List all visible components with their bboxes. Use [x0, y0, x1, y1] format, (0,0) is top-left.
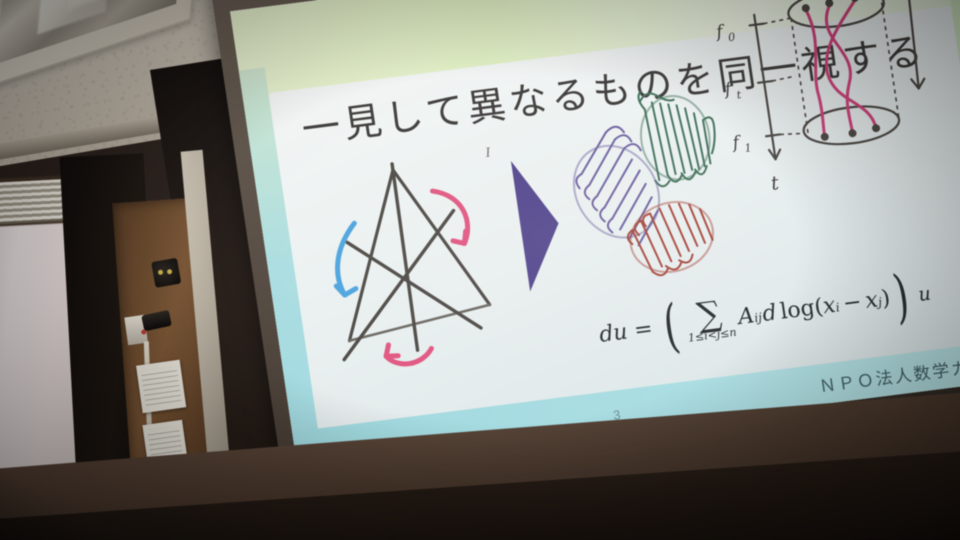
svg-text:1: 1 [744, 141, 753, 155]
formula-open-paren: ( [661, 305, 681, 348]
svg-text:f: f [713, 22, 727, 43]
formula-log: log( [779, 295, 825, 325]
formula-lhs: du [598, 320, 630, 348]
formula-A: A [737, 304, 756, 331]
svg-text:t: t [736, 88, 743, 101]
formula-sum-limits: 1≤i<j≤n [687, 325, 737, 344]
lecture-room: 一見して異なるものを同一視する [0, 0, 960, 540]
notice-text-lines [141, 366, 182, 409]
formula-equals: = [633, 317, 655, 344]
formula-summation: ∑ 1≤i<j≤n [683, 299, 737, 345]
formula-d: d [761, 301, 779, 328]
wall-clip [141, 310, 172, 331]
svg-text:t: t [769, 172, 780, 195]
wall-hook-icon [151, 258, 181, 288]
formula-minus: − [841, 290, 863, 317]
svg-text:0: 0 [727, 30, 736, 44]
svg-text:f: f [721, 79, 735, 100]
svg-text:f: f [729, 132, 743, 153]
screenshot-stage: 一見して異なるものを同一視する [0, 0, 960, 540]
formula-close-paren: ) [891, 276, 911, 319]
formula-trailing-u: u [917, 283, 932, 306]
formula-x-i-sub: i [835, 301, 841, 315]
homotopy-braid-figure: f0 ft f1 t [703, 0, 960, 205]
list-item [136, 360, 186, 414]
